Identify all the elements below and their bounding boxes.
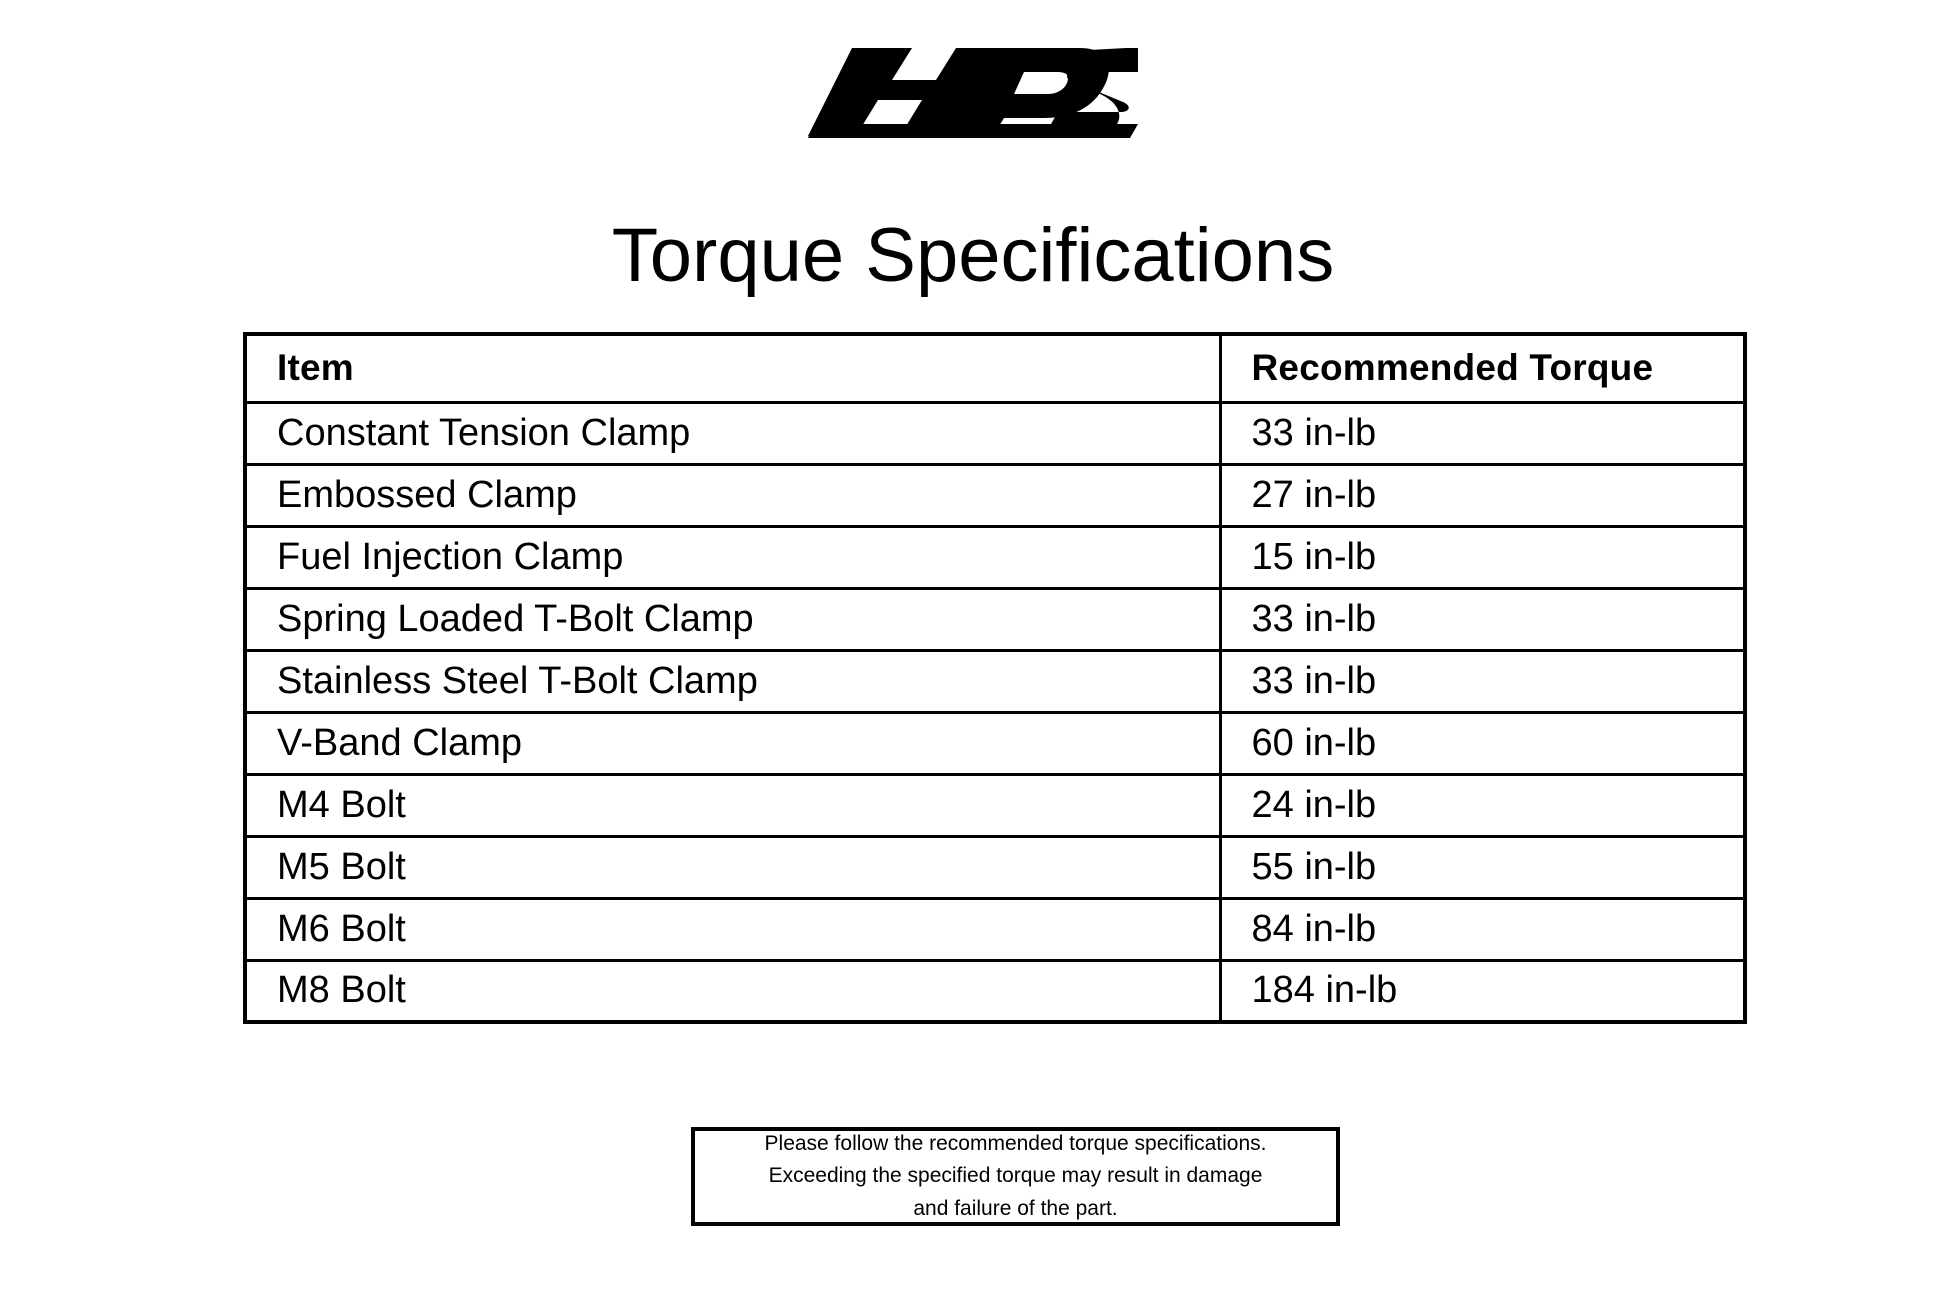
cell-item: Fuel Injection Clamp bbox=[245, 526, 1220, 588]
column-header-recommended-torque: Recommended Torque bbox=[1220, 334, 1745, 402]
cell-torque: 55 in-lb bbox=[1220, 836, 1745, 898]
cell-item: Stainless Steel T-Bolt Clamp bbox=[245, 650, 1220, 712]
table-row: M8 Bolt 184 in-lb bbox=[245, 960, 1745, 1022]
table-row: Spring Loaded T-Bolt Clamp 33 in-lb bbox=[245, 588, 1745, 650]
note-line: Please follow the recommended torque spe… bbox=[765, 1128, 1267, 1161]
cell-torque: 84 in-lb bbox=[1220, 898, 1745, 960]
table-row: M6 Bolt 84 in-lb bbox=[245, 898, 1745, 960]
note-line: and failure of the part. bbox=[913, 1193, 1117, 1226]
table-row: Fuel Injection Clamp 15 in-lb bbox=[245, 526, 1745, 588]
cell-item: M8 Bolt bbox=[245, 960, 1220, 1022]
cell-item: M4 Bolt bbox=[245, 774, 1220, 836]
cell-torque: 24 in-lb bbox=[1220, 774, 1745, 836]
cell-item: Embossed Clamp bbox=[245, 464, 1220, 526]
brand-logo bbox=[0, 38, 1946, 138]
cell-item: M6 Bolt bbox=[245, 898, 1220, 960]
cell-torque: 33 in-lb bbox=[1220, 588, 1745, 650]
cell-torque: 60 in-lb bbox=[1220, 712, 1745, 774]
table-header-row: Item Recommended Torque bbox=[245, 334, 1745, 402]
table-row: Constant Tension Clamp 33 in-lb bbox=[245, 402, 1745, 464]
column-header-item: Item bbox=[245, 334, 1220, 402]
table-row: Stainless Steel T-Bolt Clamp 33 in-lb bbox=[245, 650, 1745, 712]
table-row: Embossed Clamp 27 in-lb bbox=[245, 464, 1745, 526]
page-title: Torque Specifications bbox=[0, 216, 1946, 296]
hps-logo-icon bbox=[808, 38, 1138, 138]
warning-note-box: Please follow the recommended torque spe… bbox=[691, 1127, 1340, 1226]
cell-torque: 33 in-lb bbox=[1220, 650, 1745, 712]
cell-torque: 27 in-lb bbox=[1220, 464, 1745, 526]
cell-torque: 184 in-lb bbox=[1220, 960, 1745, 1022]
table-header: Item Recommended Torque bbox=[245, 334, 1745, 402]
table-row: M4 Bolt 24 in-lb bbox=[245, 774, 1745, 836]
cell-torque: 33 in-lb bbox=[1220, 402, 1745, 464]
cell-item: Spring Loaded T-Bolt Clamp bbox=[245, 588, 1220, 650]
torque-spec-table: Item Recommended Torque Constant Tension… bbox=[243, 332, 1747, 1024]
table-body: Constant Tension Clamp 33 in-lb Embossed… bbox=[245, 402, 1745, 1022]
note-line: Exceeding the specified torque may resul… bbox=[769, 1160, 1263, 1193]
cell-item: Constant Tension Clamp bbox=[245, 402, 1220, 464]
table-row: V-Band Clamp 60 in-lb bbox=[245, 712, 1745, 774]
table-row: M5 Bolt 55 in-lb bbox=[245, 836, 1745, 898]
cell-torque: 15 in-lb bbox=[1220, 526, 1745, 588]
torque-spec-table-container: Item Recommended Torque Constant Tension… bbox=[243, 332, 1743, 1024]
cell-item: M5 Bolt bbox=[245, 836, 1220, 898]
cell-item: V-Band Clamp bbox=[245, 712, 1220, 774]
